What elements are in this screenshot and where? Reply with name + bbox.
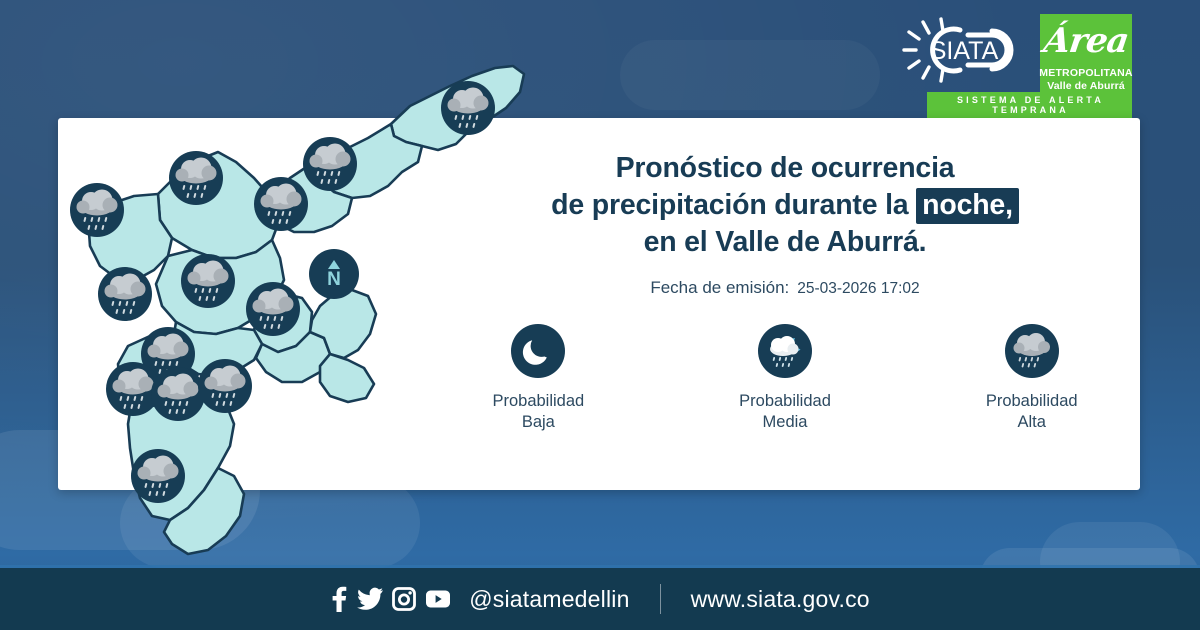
legend-label-alta: Probabilidad Alta	[986, 391, 1078, 433]
forecast-content: Pronóstico de ocurrencia de precipitació…	[470, 150, 1100, 433]
legend-item-media: Probabilidad Media	[717, 324, 854, 433]
map-marker[interactable]	[131, 449, 185, 503]
page-title: Pronóstico de ocurrencia de precipitació…	[470, 150, 1100, 261]
social-icons	[330, 586, 451, 612]
siata-logo: SIATA	[898, 14, 1030, 86]
footer-divider	[660, 584, 661, 614]
compass-arrow	[328, 260, 340, 269]
website-link[interactable]: www.siata.gov.co	[691, 586, 870, 613]
emission-date-row: Fecha de emisión: 25-03-2026 17:02	[470, 278, 1100, 298]
map-weather-markers	[58, 46, 538, 566]
area-line2: Valle de Aburrá	[1047, 80, 1125, 92]
legend-label-line1: Probabilidad	[492, 391, 584, 412]
legend-label-line2: Media	[739, 412, 831, 433]
map-marker[interactable]	[151, 367, 205, 421]
social-handle[interactable]: @siatamedellin	[469, 586, 629, 613]
legend-label-baja: Probabilidad Baja	[492, 391, 584, 433]
title-line-3: en el Valle de Aburrá.	[470, 224, 1100, 261]
legend-label-line1: Probabilidad	[739, 391, 831, 412]
twitter-icon[interactable]	[357, 587, 383, 611]
legend-item-baja: Probabilidad Baja	[470, 324, 607, 433]
area-line1: METROPOLITANA	[1039, 67, 1132, 79]
footer-bar: @siatamedellin www.siata.gov.co	[0, 568, 1200, 630]
title-line-2: de precipitación durante la noche,	[470, 187, 1100, 224]
title-line-1: Pronóstico de ocurrencia	[470, 150, 1100, 187]
sun-cloud-icon: SIATA	[898, 14, 1030, 86]
map-marker[interactable]	[169, 151, 223, 205]
cloud-moon-rain-icon	[758, 324, 812, 378]
legend-label-line1: Probabilidad	[986, 391, 1078, 412]
map-marker[interactable]	[254, 177, 308, 231]
map-marker[interactable]	[441, 81, 495, 135]
compass-label: N	[327, 270, 341, 289]
legend-item-alta: Probabilidad Alta	[963, 324, 1100, 433]
legend-label-line2: Alta	[986, 412, 1078, 433]
map-marker[interactable]	[98, 267, 152, 321]
siata-wordmark: SIATA	[930, 37, 999, 65]
emission-date-label: Fecha de emisión:	[650, 278, 789, 298]
area-script-text: Área	[1042, 24, 1131, 58]
emission-date-value: 25-03-2026 17:02	[797, 280, 919, 298]
map-marker[interactable]	[246, 282, 300, 336]
map-marker[interactable]	[198, 359, 252, 413]
legend-label-media: Probabilidad Media	[739, 391, 831, 433]
cloud-heavy-rain-icon	[1005, 324, 1059, 378]
north-arrow-icon: N	[309, 249, 359, 299]
background-cloud-5	[620, 40, 880, 110]
legend-label-line2: Baja	[492, 412, 584, 433]
title-line-2-text: de precipitación durante la	[551, 189, 908, 221]
probability-legend: Probabilidad Baja	[470, 324, 1100, 433]
moon-icon	[511, 324, 565, 378]
map-marker[interactable]	[70, 183, 124, 237]
map-marker[interactable]	[181, 254, 235, 308]
instagram-icon[interactable]	[392, 587, 416, 611]
youtube-icon[interactable]	[425, 589, 451, 609]
tagline-banner: SISTEMA DE ALERTA TEMPRANA	[927, 92, 1132, 118]
map-marker[interactable]	[303, 137, 357, 191]
facebook-icon[interactable]	[330, 586, 348, 612]
valle-de-aburra-map	[58, 46, 538, 566]
title-highlight: noche,	[916, 188, 1019, 224]
